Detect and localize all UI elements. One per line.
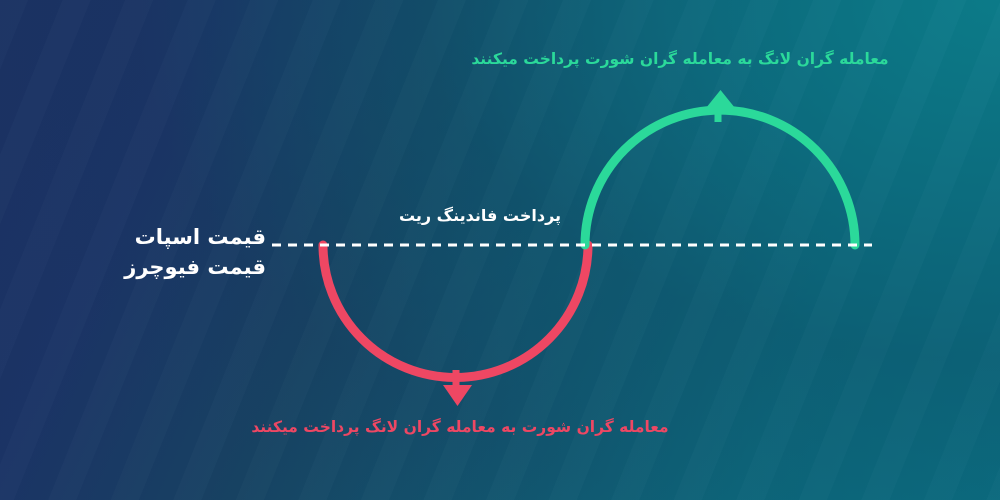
short-pays-long-annotation: معامله گران شورت به معامله گران لانگ پرد… (240, 418, 680, 436)
up-arrow-icon (706, 90, 735, 122)
spot-price-label: قیمت اسپات (0, 222, 266, 252)
short-pays-long-curve (323, 245, 588, 378)
funding-rate-payment-label: پرداخت فاندینگ ریت (370, 206, 590, 225)
funding-rate-infographic: قیمت اسپات قیمت فیوچرز پرداخت فاندینگ ری… (0, 0, 1000, 500)
spot-futures-price-label: قیمت اسپات قیمت فیوچرز (0, 222, 266, 282)
long-pays-short-curve (585, 110, 855, 245)
futures-price-label: قیمت فیوچرز (0, 252, 266, 282)
long-pays-short-annotation: معامله گران لانگ به معامله گران شورت پرد… (455, 50, 905, 68)
